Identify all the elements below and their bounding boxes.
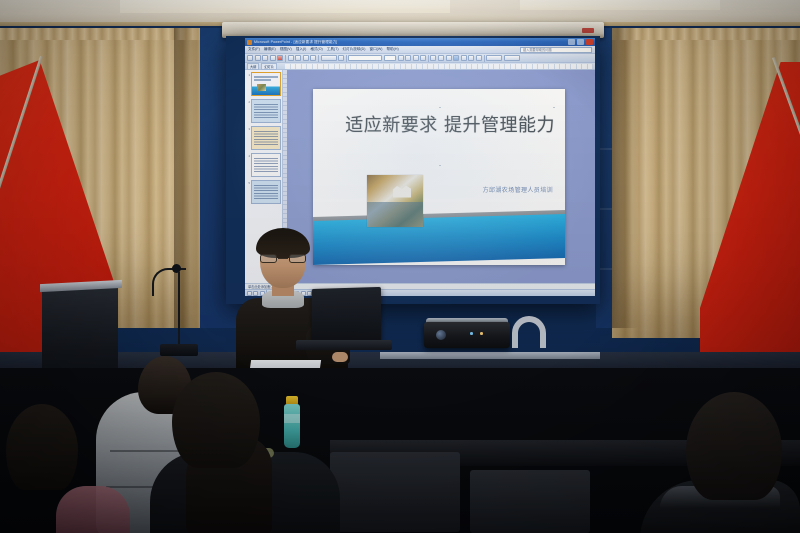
thumbnail-text-block bbox=[254, 158, 278, 172]
thumbnail-row[interactable]: 3 bbox=[246, 126, 281, 150]
curtain-header-right bbox=[612, 28, 800, 40]
ppt-view-tab-row: 大纲 幻灯片 bbox=[245, 63, 595, 70]
silver-arc-object bbox=[512, 316, 546, 348]
curtain-shadow-right bbox=[612, 28, 638, 328]
bullets-icon[interactable] bbox=[453, 55, 459, 61]
thumbnail-number: 4 bbox=[246, 153, 250, 158]
close-button[interactable] bbox=[586, 39, 593, 45]
slide-placeholder-marker bbox=[439, 107, 441, 109]
minimize-button[interactable] bbox=[568, 39, 575, 45]
glasses-lens-right bbox=[289, 254, 306, 263]
print-preview-icon[interactable] bbox=[277, 55, 283, 61]
align-right-icon[interactable] bbox=[446, 55, 452, 61]
ceiling-light-panel-2 bbox=[520, 0, 720, 10]
presenter-hand bbox=[332, 352, 348, 362]
projector-led bbox=[480, 332, 483, 335]
attendee-3-hood bbox=[56, 486, 130, 533]
thumbnail-number: 5 bbox=[246, 180, 250, 185]
cut-icon[interactable] bbox=[295, 55, 301, 61]
decrease-font-icon[interactable] bbox=[476, 55, 482, 61]
menu-tools[interactable]: 工具(T) bbox=[327, 47, 339, 52]
bold-icon[interactable] bbox=[398, 55, 404, 61]
new-slide-button[interactable] bbox=[504, 55, 520, 61]
bottle-label bbox=[284, 414, 300, 423]
chair-back bbox=[330, 452, 460, 532]
glasses-bridge bbox=[278, 258, 288, 259]
glasses-lens-left bbox=[260, 254, 277, 263]
thumbnail-slide-3[interactable] bbox=[251, 126, 281, 150]
slide-placeholder-marker bbox=[553, 107, 555, 109]
ppt-menu-bar: 文件(F) 编辑(E) 视图(V) 插入(I) 格式(O) 工具(T) 幻灯片放… bbox=[245, 46, 595, 54]
align-left-icon[interactable] bbox=[430, 55, 436, 61]
presenter-glasses bbox=[260, 254, 306, 263]
zoom-combo[interactable] bbox=[321, 55, 337, 61]
water-bottle bbox=[284, 404, 300, 448]
attendee-4-head bbox=[686, 392, 782, 500]
laptop-screen bbox=[312, 287, 381, 343]
increase-font-icon[interactable] bbox=[468, 55, 474, 61]
numbering-icon[interactable] bbox=[461, 55, 467, 61]
ppt-title-bar: Microsoft PowerPoint - [适应新要求 提升管理能力] bbox=[245, 38, 595, 46]
attendee-3-head bbox=[6, 404, 78, 490]
ppt-standard-toolbar bbox=[245, 54, 595, 63]
photo-scene: Microsoft PowerPoint - [适应新要求 提升管理能力] 文件… bbox=[0, 0, 800, 533]
ppt-window-title: Microsoft PowerPoint - [适应新要求 提升管理能力] bbox=[254, 40, 337, 45]
shadow-icon[interactable] bbox=[420, 55, 426, 61]
table-edge-highlight bbox=[380, 352, 600, 359]
open-icon[interactable] bbox=[255, 55, 261, 61]
tab-slides[interactable]: 幻灯片 bbox=[261, 63, 277, 70]
thumbnail-slide-1[interactable] bbox=[251, 72, 281, 96]
thumbnail-row[interactable]: 4 bbox=[246, 153, 281, 177]
help-search-box[interactable]: 键入需要帮助的问题 bbox=[520, 47, 592, 53]
font-size-combo[interactable] bbox=[384, 55, 396, 61]
restore-button[interactable] bbox=[577, 39, 584, 45]
menu-slideshow[interactable]: 幻灯片放映(D) bbox=[343, 47, 366, 52]
thumbnail-number: 3 bbox=[246, 126, 250, 131]
thumbnail-text-line bbox=[254, 79, 271, 81]
thumbnail-number: 1 bbox=[246, 72, 250, 77]
menu-edit[interactable]: 编辑(E) bbox=[264, 47, 276, 52]
thumbnail-number: 2 bbox=[246, 99, 250, 104]
thumbnail-slide-2[interactable] bbox=[251, 99, 281, 123]
save-icon[interactable] bbox=[262, 55, 268, 61]
slide-landscape-photo[interactable] bbox=[367, 175, 423, 227]
powerpoint-icon bbox=[247, 40, 252, 45]
italic-icon[interactable] bbox=[405, 55, 411, 61]
print-icon[interactable] bbox=[270, 55, 276, 61]
menu-view[interactable]: 视图(V) bbox=[280, 47, 292, 52]
copy-icon[interactable] bbox=[303, 55, 309, 61]
horizontal-ruler bbox=[285, 64, 593, 69]
thumbnail-photo bbox=[257, 84, 266, 91]
align-center-icon[interactable] bbox=[438, 55, 444, 61]
thumbnail-row[interactable]: 2 bbox=[246, 99, 281, 123]
projector-led bbox=[470, 332, 473, 335]
thumbnail-row[interactable]: 1 bbox=[246, 72, 281, 96]
underline-icon[interactable] bbox=[413, 55, 419, 61]
house-shape bbox=[393, 185, 411, 198]
chair-back bbox=[470, 470, 590, 533]
design-button[interactable] bbox=[486, 55, 502, 61]
menu-format[interactable]: 格式(O) bbox=[310, 47, 322, 52]
thumbnail-slide-5[interactable] bbox=[251, 180, 281, 204]
microphone-stand bbox=[178, 272, 180, 352]
font-name-combo[interactable] bbox=[348, 55, 382, 61]
menu-file[interactable]: 文件(F) bbox=[248, 47, 260, 52]
ceiling-light-panel bbox=[120, 0, 450, 13]
thumbnail-row[interactable]: 5 bbox=[246, 180, 281, 204]
slide-title-text[interactable]: 适应新要求 提升管理能力 bbox=[331, 115, 555, 137]
thumbnail-slide-4[interactable] bbox=[251, 153, 281, 177]
new-icon[interactable] bbox=[247, 55, 253, 61]
thumbnail-text-block bbox=[254, 131, 278, 145]
spelling-icon[interactable] bbox=[288, 55, 294, 61]
thumbnail-text-block bbox=[254, 185, 278, 199]
thumbnail-text-block bbox=[254, 104, 278, 118]
laptop-base bbox=[296, 340, 392, 350]
slide-subtitle-text[interactable]: 方邱湖农场管理人员培训 bbox=[483, 185, 553, 194]
help-search-placeholder: 键入需要帮助的问题 bbox=[523, 47, 552, 52]
microphone-arm bbox=[152, 268, 186, 296]
menu-help[interactable]: 帮助(H) bbox=[386, 47, 398, 52]
screen-brand-logo bbox=[582, 28, 594, 33]
projector-lens bbox=[436, 330, 446, 340]
menu-window[interactable]: 窗口(W) bbox=[369, 47, 382, 52]
thumbnail-text-line bbox=[254, 76, 278, 78]
help-icon[interactable] bbox=[338, 55, 344, 61]
attendee-2-head bbox=[172, 372, 260, 468]
microphone-base bbox=[160, 344, 198, 356]
curtain-header-left bbox=[0, 28, 200, 40]
paste-icon[interactable] bbox=[310, 55, 316, 61]
tab-outline[interactable]: 大纲 bbox=[247, 63, 259, 70]
slide-placeholder-marker bbox=[439, 165, 441, 167]
menu-insert[interactable]: 插入(I) bbox=[296, 47, 307, 52]
